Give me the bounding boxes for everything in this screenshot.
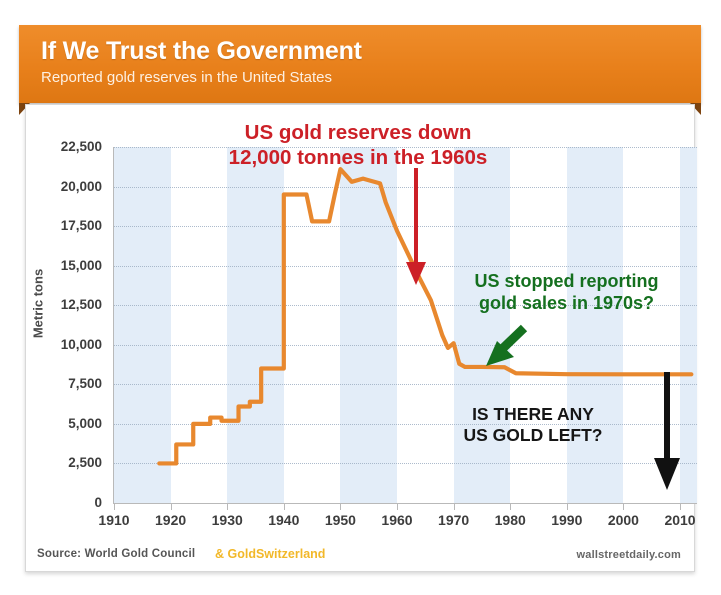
y-tick-label: 0 xyxy=(40,495,102,510)
y-tick-label: 15,000 xyxy=(40,258,102,273)
annotation-green: US stopped reporting gold sales in 1970s… xyxy=(424,271,709,315)
x-tick-label: 1970 xyxy=(427,512,481,528)
y-tick-label: 12,500 xyxy=(40,297,102,312)
x-axis-tick xyxy=(227,504,228,510)
gridline-horizontal xyxy=(114,345,697,346)
y-tick-label: 17,500 xyxy=(40,218,102,233)
decade-band xyxy=(680,147,697,503)
decade-band xyxy=(114,147,171,503)
footer: Source: World Gold Council & GoldSwitzer… xyxy=(25,545,695,573)
x-axis-tick xyxy=(454,504,455,510)
x-axis-tick xyxy=(680,504,681,510)
gridline-horizontal xyxy=(114,463,697,464)
x-tick-label: 1920 xyxy=(144,512,198,528)
x-axis-tick xyxy=(623,504,624,510)
x-axis-tick xyxy=(114,504,115,510)
decade-band xyxy=(567,147,624,503)
y-tick-label: 2,500 xyxy=(40,455,102,470)
x-tick-label: 1940 xyxy=(257,512,311,528)
annotation-red-line1: US gold reserves down xyxy=(163,120,553,145)
x-tick-label: 1990 xyxy=(540,512,594,528)
y-axis-title: Metric tons xyxy=(31,244,46,364)
x-axis-line xyxy=(114,503,697,504)
gridline-horizontal xyxy=(114,384,697,385)
page-subtitle: Reported gold reserves in the United Sta… xyxy=(41,68,701,88)
gridline-horizontal xyxy=(114,266,697,267)
annotation-black: IS THERE ANY US GOLD LEFT? xyxy=(408,404,658,447)
annotation-red: US gold reserves down 12,000 tonnes in t… xyxy=(163,120,553,170)
y-tick-label: 22,500 xyxy=(40,139,102,154)
x-axis-tick xyxy=(340,504,341,510)
decade-band xyxy=(340,147,397,503)
annotation-black-line1: IS THERE ANY xyxy=(408,404,658,425)
y-tick-label: 7,500 xyxy=(40,376,102,391)
annotation-green-line1: US stopped reporting xyxy=(424,271,709,293)
plot-area xyxy=(114,147,697,503)
x-tick-label: 1930 xyxy=(200,512,254,528)
source-extra-label: & GoldSwitzerland xyxy=(215,547,325,561)
x-tick-label: 2000 xyxy=(596,512,650,528)
x-axis-tick xyxy=(510,504,511,510)
gridline-horizontal xyxy=(114,226,697,227)
source-label: Source: World Gold Council xyxy=(37,548,195,560)
x-axis-tick xyxy=(397,504,398,510)
y-axis-line xyxy=(113,147,114,504)
infographic-root: If We Trust the Government Reported gold… xyxy=(0,0,721,595)
x-tick-label: 1960 xyxy=(370,512,424,528)
x-axis-tick xyxy=(284,504,285,510)
decade-band xyxy=(454,147,511,503)
header-banner: If We Trust the Government Reported gold… xyxy=(19,25,701,103)
y-tick-label: 10,000 xyxy=(40,337,102,352)
x-tick-label: 2010 xyxy=(653,512,707,528)
site-label: wallstreetdaily.com xyxy=(577,549,681,561)
x-tick-label: 1980 xyxy=(483,512,537,528)
gridline-horizontal xyxy=(114,187,697,188)
x-axis-tick xyxy=(171,504,172,510)
annotation-green-line2: gold sales in 1970s? xyxy=(424,293,709,315)
x-axis-tick xyxy=(567,504,568,510)
annotation-black-line2: US GOLD LEFT? xyxy=(408,425,658,446)
x-tick-label: 1910 xyxy=(87,512,141,528)
page-title: If We Trust the Government xyxy=(41,36,701,66)
y-tick-label: 5,000 xyxy=(40,416,102,431)
x-tick-label: 1950 xyxy=(313,512,367,528)
annotation-red-line2: 12,000 tonnes in the 1960s xyxy=(163,145,553,170)
decade-band xyxy=(227,147,284,503)
y-tick-label: 20,000 xyxy=(40,179,102,194)
